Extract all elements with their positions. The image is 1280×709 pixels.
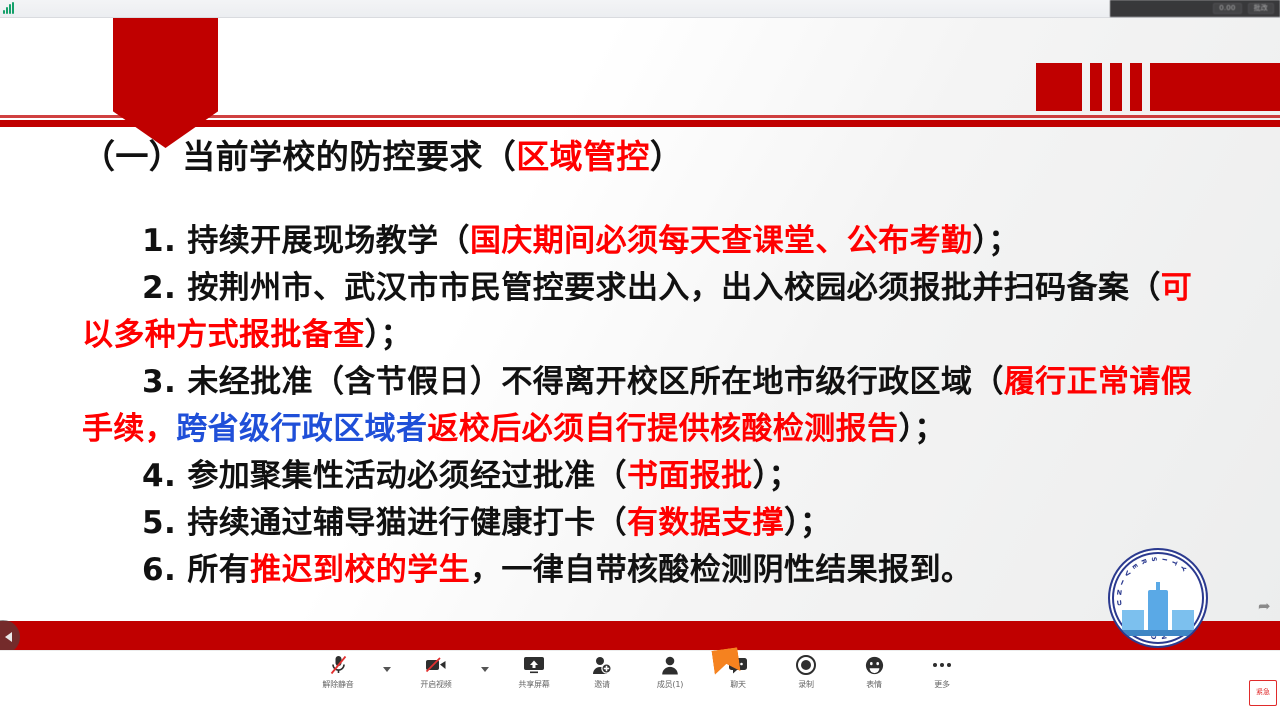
toolbar-video-button[interactable]: 开启视频	[413, 654, 459, 690]
deco-bar	[1036, 63, 1082, 111]
list-item-segment: 有数据支撑	[627, 505, 784, 541]
list-item-number: 4.	[142, 458, 176, 494]
list-item-segment: ）；	[365, 317, 412, 353]
deco-bar	[1090, 63, 1102, 111]
emblem-building-tower	[1148, 590, 1168, 630]
list-item-segment: 参加聚集性活动必须经过批准（	[187, 458, 627, 494]
reactions-icon	[865, 654, 884, 676]
chevron-up-icon	[481, 667, 489, 672]
signal-strength-icon	[3, 2, 14, 14]
toolbar-invite-button[interactable]: 邀请	[579, 654, 625, 690]
list-item-segment: 持续开展现场教学（	[187, 223, 470, 259]
participants-icon	[661, 654, 679, 676]
emblem-ring-char: R	[1139, 558, 1148, 566]
toolbar-reactions-label: 表情	[866, 679, 882, 690]
deco-bar	[1110, 63, 1122, 111]
toolbar-record-button[interactable]: 录制	[783, 654, 829, 690]
chrome-right-item-1: 批改	[1248, 3, 1274, 14]
list-item-number: 3.	[142, 364, 176, 400]
list-item-segment: 跨省级行政区域者	[176, 411, 427, 447]
list-item-segment: 推迟到校的学生	[250, 552, 470, 588]
emblem-ring-char: I	[1119, 579, 1124, 587]
emblem-building-wing	[1122, 610, 1144, 630]
toolbar-more-label: 更多	[934, 679, 950, 690]
toolbar-mute-button[interactable]: 解除静音	[315, 654, 361, 690]
meeting-toolbar: 解除静音 开启视频 共享屏幕 邀请	[0, 650, 1280, 709]
toolbar-invite-label: 邀请	[594, 679, 610, 690]
toolbar-participants-label: 成员(1)	[657, 679, 683, 690]
toolbar-share-screen-button[interactable]: 共享屏幕	[511, 654, 557, 690]
list-item: 3. 未经批准（含节假日）不得离开校区所在地市级行政区域（履行正常请假手续，跨省…	[0, 359, 1280, 453]
emblem-ring-char: N	[1116, 588, 1122, 597]
list-item-segment: ）；	[898, 411, 945, 447]
list-item-segment: 未经批准（含节假日）不得离开校区所在地市级行政区域（	[187, 364, 1003, 400]
list-item-segment: ）；	[784, 505, 831, 541]
record-icon	[796, 654, 816, 676]
toolbar-chat-label: 聊天	[730, 679, 746, 690]
list-item-segment: 国庆期间必须每天查课堂、公布考勤	[470, 223, 972, 259]
share-screen-icon	[523, 654, 545, 676]
chevron-up-icon	[383, 667, 391, 672]
toolbar-participants-button[interactable]: 成员(1)	[647, 654, 693, 690]
chrome-right-cluster: 0.00 批改	[1110, 0, 1280, 17]
list-item-segment: 持续通过辅导猫进行健康打卡（	[187, 505, 627, 541]
header-rule-thin	[0, 115, 1280, 118]
slide-title: （一）当前学校的防控要求（区域管控）	[0, 132, 1280, 182]
slide-title-highlight: 区域管控	[516, 137, 650, 176]
header-rule-thick	[0, 120, 1280, 127]
chevron-left-icon	[5, 632, 12, 642]
annotation-cursor-icon: ➦	[1258, 599, 1276, 621]
list-item: 1. 持续开展现场教学（国庆期间必须每天查课堂、公布考勤）；	[0, 218, 1280, 265]
presentation-slide: （一）当前学校的防控要求（区域管控） 1. 持续开展现场教学（国庆期间必须每天查…	[0, 17, 1280, 651]
list-item: 4. 参加聚集性活动必须经过批准（书面报批）；	[0, 453, 1280, 500]
list-item-segment: ，一律自带核酸检测阴性结果报到。	[470, 552, 972, 588]
slide-body: （一）当前学校的防控要求（区域管控） 1. 持续开展现场教学（国庆期间必须每天查…	[0, 132, 1280, 594]
camera-muted-icon	[425, 654, 447, 676]
chrome-right-item-0: 0.00	[1213, 3, 1241, 14]
list-item: 5. 持续通过辅导猫进行健康打卡（有数据支撑）；	[0, 500, 1280, 547]
emergency-corner-badge[interactable]: 紧急	[1249, 680, 1277, 706]
list-item-segment: 所有	[187, 552, 250, 588]
more-icon	[933, 654, 951, 676]
toolbar-record-label: 录制	[798, 679, 814, 690]
emblem-ring-char: V	[1123, 569, 1132, 578]
emblem-building-base	[1120, 630, 1196, 636]
emblem-ring-char: U	[1116, 599, 1122, 608]
emblem-ring-char: T	[1170, 559, 1179, 566]
toolbar-video-label: 开启视频	[420, 679, 451, 690]
decorative-pennant-shape	[113, 17, 218, 148]
list-item-segment: 书面报批	[627, 458, 753, 494]
emblem-ring-char: Y	[1178, 564, 1187, 573]
emblem-ring-char: E	[1130, 562, 1139, 570]
list-item-number: 2.	[142, 270, 176, 306]
list-item-number: 1.	[142, 223, 176, 259]
toolbar-mute-label: 解除静音	[322, 679, 353, 690]
deco-bar	[1150, 63, 1280, 111]
app-chrome-bar: 0.00 批改	[0, 0, 1280, 18]
slide-title-suffix: ）	[650, 137, 683, 176]
toolbar-video-caret-button[interactable]	[481, 654, 489, 676]
meeting-toolbar-items: 解除静音 开启视频 共享屏幕 邀请	[315, 654, 965, 690]
toolbar-mute-caret-button[interactable]	[383, 654, 391, 676]
decorative-red-bars	[1028, 63, 1280, 111]
list-item: 6. 所有推迟到校的学生，一律自带核酸检测阴性结果报到。	[0, 547, 1280, 594]
slide-footer-band	[0, 621, 1280, 651]
slide-title-prefix: （一）当前学校的防控要求（	[82, 137, 516, 176]
list-item-number: 6.	[142, 552, 176, 588]
invite-icon	[592, 654, 612, 676]
toolbar-share-screen-label: 共享屏幕	[518, 679, 549, 690]
list-item-segment: ）；	[753, 458, 800, 494]
list-item-segment: 按荆州市、武汉市市民管控要求出入，出入校园必须报批并扫码备案（	[187, 270, 1160, 306]
emblem-building-wing	[1172, 610, 1194, 630]
toolbar-reactions-button[interactable]: 表情	[851, 654, 897, 690]
toolbar-more-button[interactable]: 更多	[919, 654, 965, 690]
emblem-ring-char: S	[1150, 556, 1158, 561]
yangtze-university-emblem-icon: YANGTZE UNIVERSITY	[1108, 548, 1208, 648]
microphone-muted-icon	[330, 654, 347, 676]
emblem-ring-char: I	[1160, 558, 1168, 562]
list-item-segment: ）；	[972, 223, 1019, 259]
list-item-number: 5.	[142, 505, 176, 541]
deco-bar	[1130, 63, 1142, 111]
list-item: 2. 按荆州市、武汉市市民管控要求出入，出入校园必须报批并扫码备案（可以多种方式…	[0, 265, 1280, 359]
list-item-segment: 返校后必须自行提供核酸检测报告	[427, 411, 898, 447]
